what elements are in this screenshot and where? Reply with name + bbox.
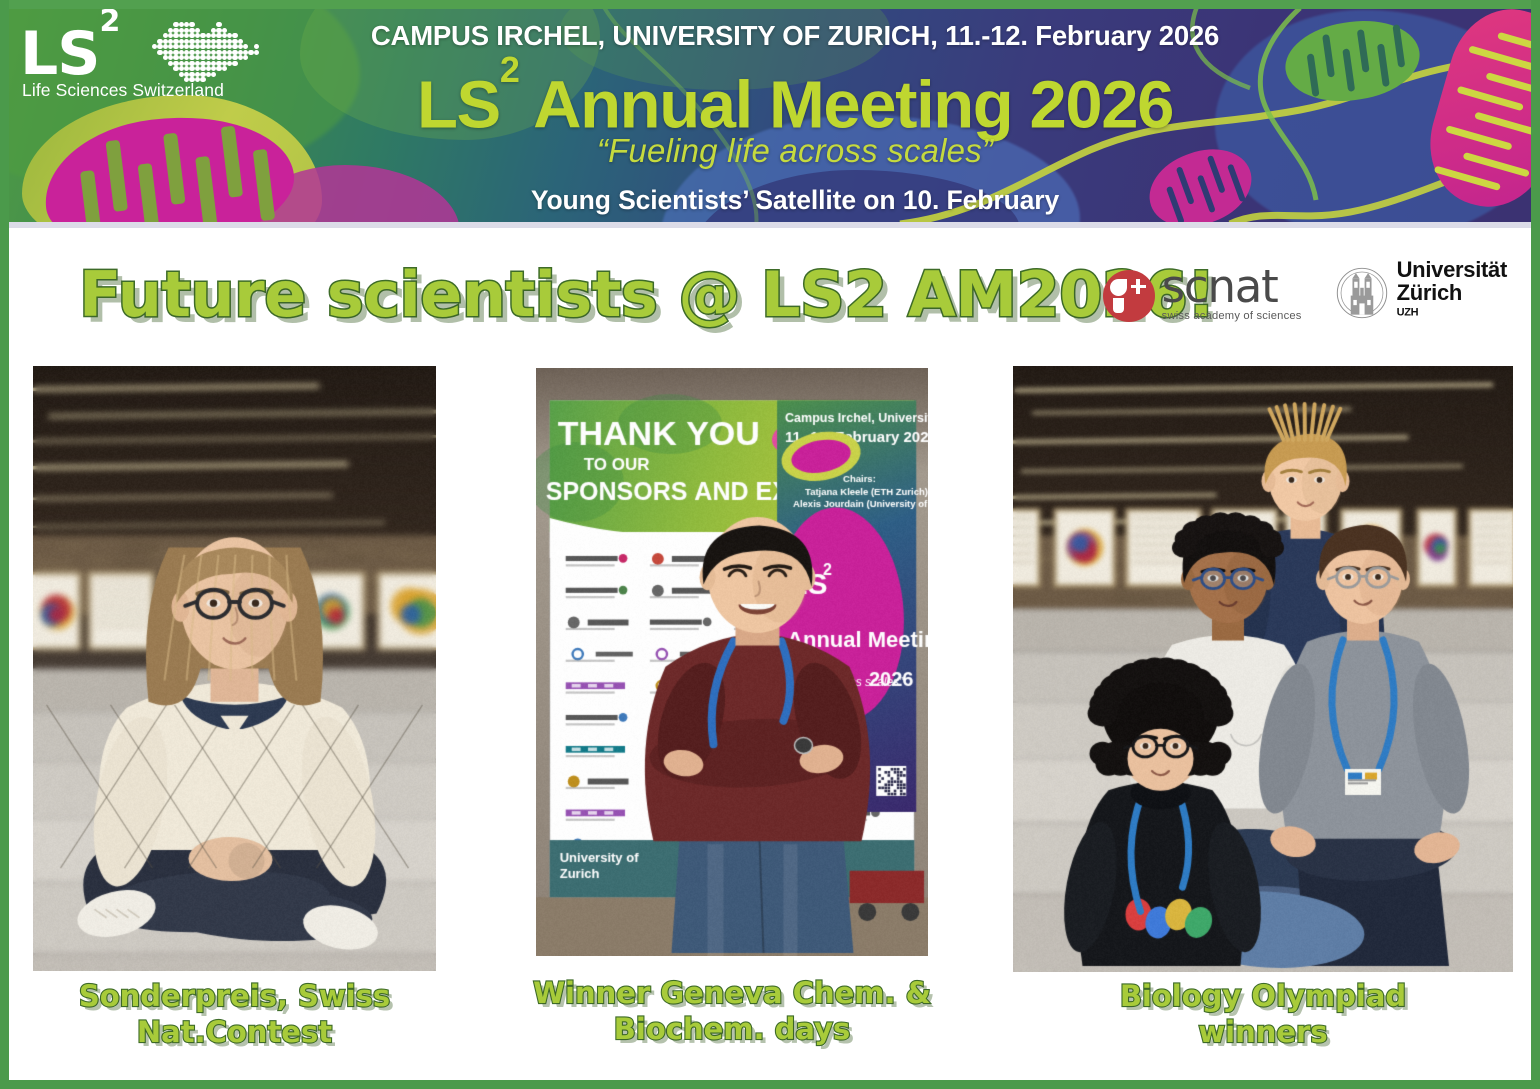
photo-geneva-chem-winner	[536, 368, 928, 956]
caption-biology-olympiad: Biology Olympiad winners	[1013, 978, 1513, 1050]
poster-canvas: LS2 Life Sciences Switzerland CAMPUS IRC…	[0, 0, 1540, 1089]
ls2-logo[interactable]: LS2 Life Sciences Switzerland	[20, 14, 280, 114]
caption-line: Nat.Contest	[33, 1014, 436, 1050]
banner-bottom-strip	[0, 222, 1540, 228]
scnat-mark-icon	[1103, 270, 1155, 322]
scnat-wordmark: scnat	[1162, 264, 1302, 309]
ls2-logo-tagline: Life Sciences Switzerland	[22, 80, 224, 101]
banner-top-strip	[0, 0, 1540, 9]
event-banner: LS2 Life Sciences Switzerland CAMPUS IRC…	[0, 0, 1540, 228]
banner-venue-date: CAMPUS IRCHEL, UNIVERSITY OF ZURICH, 11.…	[295, 20, 1295, 52]
caption-line: Sonderpreis, Swiss	[33, 978, 436, 1014]
partner-logo-row: scnat swiss academy of sciences	[1103, 258, 1507, 328]
caption-line: Winner Geneva Chem. &	[514, 975, 950, 1011]
university-of-zurich-logo[interactable]: Universität ZürichUZH	[1336, 258, 1507, 328]
scnat-tagline: swiss academy of sciences	[1162, 311, 1302, 322]
caption-geneva: Winner Geneva Chem. & Biochem. days	[514, 975, 950, 1047]
page-title: Future scientists @ LS2 AM2026!	[79, 258, 1215, 331]
caption-line: winners	[1013, 1014, 1513, 1050]
uzh-line1: Universität	[1397, 258, 1507, 281]
uzh-line2: ZürichUZH	[1397, 281, 1507, 328]
ls2-logo-wordmark: LS2	[20, 14, 119, 84]
banner-satellite-note: Young Scientists’ Satellite on 10. Febru…	[295, 185, 1295, 216]
caption-line: Biology Olympiad	[1013, 978, 1513, 1014]
uzh-seal-icon	[1336, 267, 1388, 319]
caption-line: Biochem. days	[514, 1011, 950, 1047]
banner-motto: “Fueling life across scales”	[295, 132, 1295, 170]
banner-event-title: LS2 Annual Meeting 2026	[295, 53, 1295, 144]
photo-sonderpreis-winner	[33, 366, 436, 971]
scnat-logo[interactable]: scnat swiss academy of sciences	[1103, 264, 1302, 322]
ls2-switzerland-dot-map-icon	[152, 22, 257, 82]
caption-sonderpreis: Sonderpreis, Swiss Nat.Contest	[33, 978, 436, 1050]
photo-biology-olympiad-winners	[1013, 366, 1513, 972]
